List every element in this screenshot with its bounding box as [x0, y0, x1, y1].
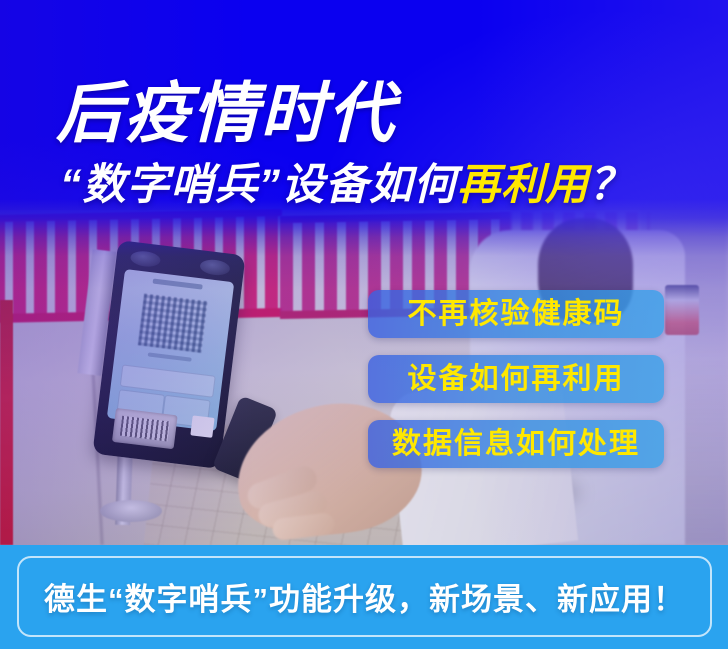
subtitle-prefix: “数字哨兵”设备如何 — [60, 161, 457, 209]
bottom-banner-frame: 德生“数字哨兵”功能升级，新场景、新应用！ — [17, 556, 712, 637]
headline-block: 后疫情时代 “数字哨兵”设备如何再利用？ — [56, 78, 696, 210]
bottom-banner-text: 德生“数字哨兵”功能升级，新场景、新应用！ — [44, 574, 685, 619]
feature-pill-data-handling[interactable]: 数据信息如何处理 — [368, 420, 664, 468]
feature-pill-label: 设备如何再利用 — [407, 363, 624, 395]
page-subtitle: “数字哨兵”设备如何再利用？ — [60, 160, 696, 210]
feature-pill-label: 数据信息如何处理 — [392, 428, 640, 460]
feature-pill-label: 不再核验健康码 — [407, 298, 624, 330]
subtitle-suffix: ？ — [589, 161, 633, 209]
poster-root: 后疫情时代 “数字哨兵”设备如何再利用？ 不再核验健康码 设备如何再利用 数据信… — [0, 0, 728, 649]
bottom-banner: 德生“数字哨兵”功能升级，新场景、新应用！ — [0, 545, 728, 649]
feature-pill-list: 不再核验健康码 设备如何再利用 数据信息如何处理 — [368, 290, 664, 485]
feature-pill-device-reuse[interactable]: 设备如何再利用 — [368, 355, 664, 403]
feature-pill-health-code[interactable]: 不再核验健康码 — [368, 290, 664, 338]
page-title: 后疫情时代 — [56, 78, 696, 148]
subtitle-highlight: 再利用 — [457, 161, 589, 209]
